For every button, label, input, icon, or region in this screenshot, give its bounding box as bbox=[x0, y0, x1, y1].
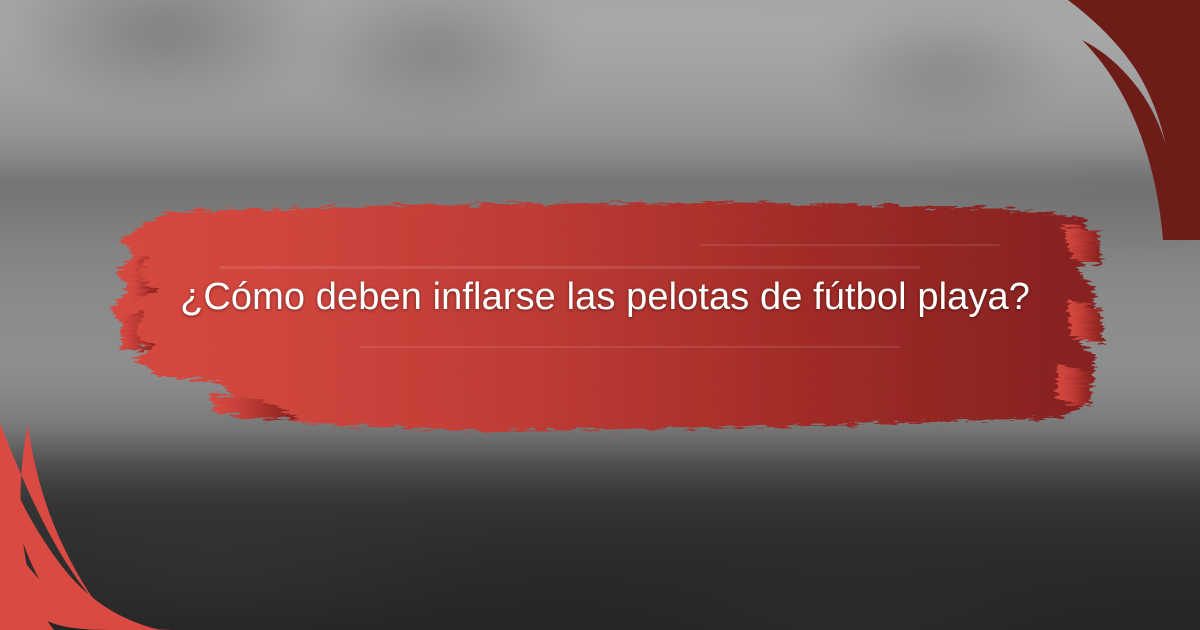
social-share-card: ¿Cómo deben inflarse las pelotas de fútb… bbox=[0, 0, 1200, 630]
page-title: ¿Cómo deben inflarse las pelotas de fútb… bbox=[150, 268, 1060, 326]
